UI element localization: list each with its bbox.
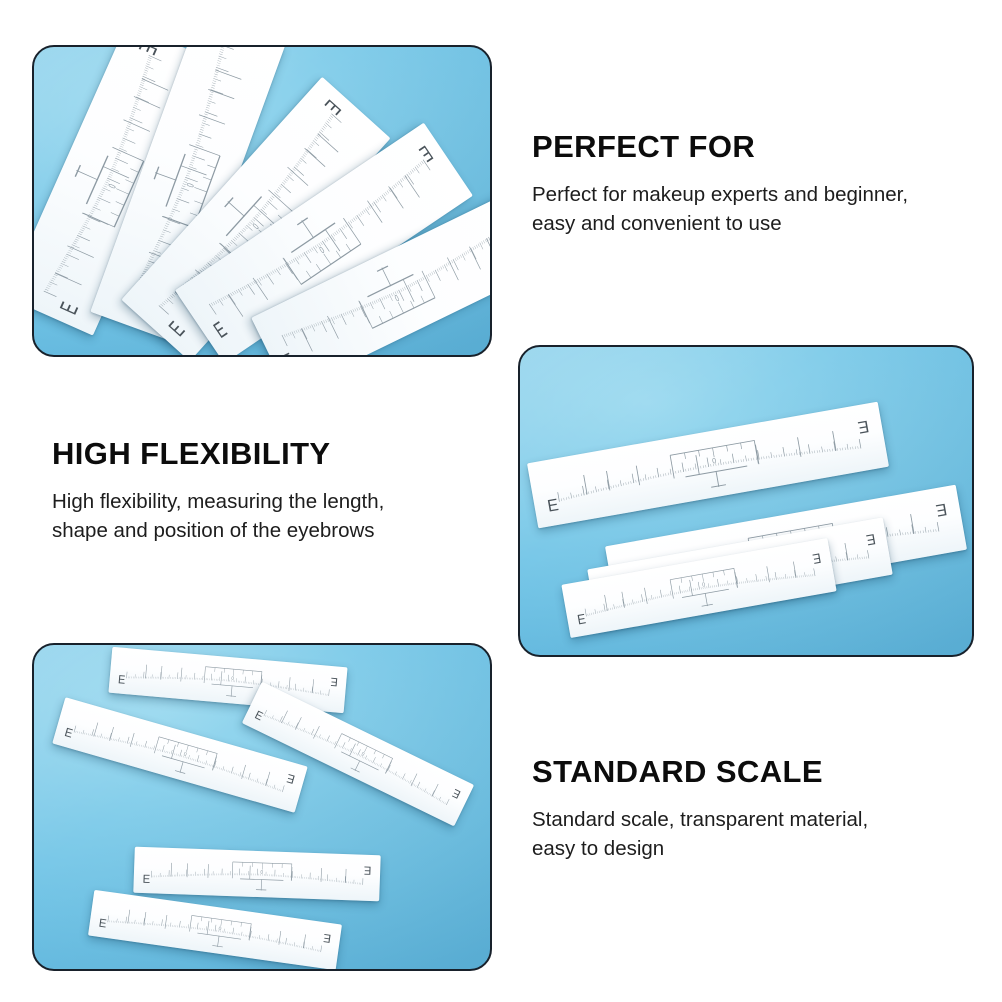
svg-text:E: E bbox=[142, 874, 150, 886]
svg-text:E: E bbox=[322, 931, 332, 945]
svg-text:0: 0 bbox=[218, 926, 222, 932]
svg-text:E: E bbox=[280, 348, 299, 357]
ruler-markings: 0EE bbox=[108, 647, 347, 713]
feature-body-line-2: easy to design bbox=[532, 837, 664, 860]
feature-body-line-1: High flexibility, measuring the length, bbox=[52, 490, 384, 513]
infographic-canvas: 0EE0EE0EE0EE0EE PERFECT FOR Perfect for … bbox=[0, 0, 1002, 1002]
feature-heading-perfect-for: PERFECT FOR bbox=[532, 131, 984, 164]
svg-text:E: E bbox=[330, 675, 339, 688]
svg-text:E: E bbox=[253, 709, 265, 724]
eyebrow-ruler-strip: 0EE bbox=[88, 890, 342, 970]
ruler-markings: 0EE bbox=[133, 847, 380, 902]
svg-text:E: E bbox=[546, 495, 560, 516]
feature-body-high-flexibility: High flexibility, measuring the length, … bbox=[52, 487, 492, 545]
ruler-markings: 0EE bbox=[88, 890, 342, 970]
svg-text:E: E bbox=[63, 725, 74, 741]
svg-text:E: E bbox=[856, 416, 870, 437]
svg-text:0: 0 bbox=[106, 182, 119, 190]
svg-text:E: E bbox=[118, 674, 127, 687]
svg-text:E: E bbox=[133, 45, 162, 58]
svg-text:E: E bbox=[363, 863, 371, 875]
svg-text:0: 0 bbox=[393, 292, 401, 303]
svg-text:E: E bbox=[165, 318, 190, 342]
svg-text:E: E bbox=[576, 611, 587, 628]
svg-text:0: 0 bbox=[711, 456, 716, 466]
svg-text:0: 0 bbox=[260, 870, 263, 876]
eyebrow-ruler-strip: 0EE bbox=[108, 647, 347, 713]
svg-text:0: 0 bbox=[317, 244, 326, 255]
feature-heading-high-flexibility: HIGH FLEXIBILITY bbox=[52, 438, 492, 471]
product-photo-mid-right: 0EE0EE0EE0EE bbox=[518, 345, 974, 657]
svg-text:E: E bbox=[415, 141, 437, 167]
svg-text:E: E bbox=[209, 317, 231, 343]
svg-text:0: 0 bbox=[184, 182, 197, 190]
svg-text:E: E bbox=[811, 550, 822, 567]
svg-text:E: E bbox=[56, 299, 85, 318]
feature-body-perfect-for: Perfect for makeup experts and beginner,… bbox=[532, 180, 984, 238]
svg-text:E: E bbox=[934, 499, 948, 520]
svg-text:0: 0 bbox=[702, 582, 706, 589]
eyebrow-ruler-strip: 0EE bbox=[133, 847, 380, 902]
svg-text:0: 0 bbox=[231, 676, 234, 682]
feature-body-line-1: Standard scale, transparent material, bbox=[532, 808, 868, 831]
svg-text:E: E bbox=[865, 530, 877, 548]
svg-text:E: E bbox=[98, 916, 108, 930]
svg-text:E: E bbox=[319, 94, 344, 118]
feature-block-high-flexibility: HIGH FLEXIBILITY High flexibility, measu… bbox=[52, 438, 492, 545]
feature-body-line-2: shape and position of the eyebrows bbox=[52, 519, 375, 542]
svg-text:E: E bbox=[205, 45, 233, 47]
feature-body-line-1: Perfect for makeup experts and beginner, bbox=[532, 183, 908, 206]
svg-text:E: E bbox=[450, 786, 462, 801]
product-photo-top-left: 0EE0EE0EE0EE0EE bbox=[32, 45, 492, 357]
feature-heading-standard-scale: STANDARD SCALE bbox=[532, 756, 984, 789]
feature-body-standard-scale: Standard scale, transparent material, ea… bbox=[532, 805, 984, 863]
product-photo-bottom-left: 0EE0EE0EE0EE0EE bbox=[32, 643, 492, 971]
feature-block-standard-scale: STANDARD SCALE Standard scale, transpare… bbox=[532, 756, 984, 863]
svg-text:0: 0 bbox=[360, 751, 365, 758]
feature-block-perfect-for: PERFECT FOR Perfect for makeup experts a… bbox=[532, 131, 984, 238]
feature-body-line-2: easy and convenient to use bbox=[532, 212, 782, 235]
svg-text:E: E bbox=[285, 771, 296, 787]
svg-text:0: 0 bbox=[183, 751, 188, 758]
